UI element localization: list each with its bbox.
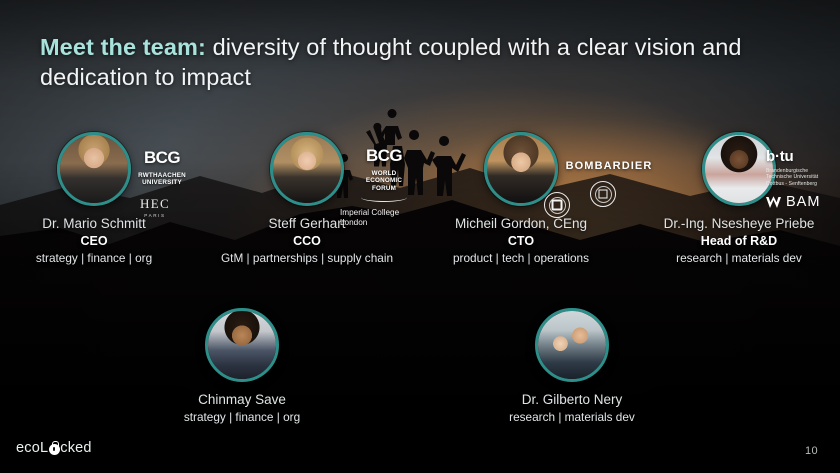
team-member-card[interactable]: Chinmay Save strategy | finance | org <box>148 308 336 424</box>
avatar <box>205 308 279 382</box>
team-member-card[interactable]: Dr. Gilberto Nery research | materials d… <box>478 308 666 424</box>
logo-cluster-btu-bam: b·tu Brandenburgische Technische Univers… <box>766 148 840 210</box>
bam-logo-text: BAM <box>786 194 820 210</box>
imperial-line2: London <box>340 218 432 228</box>
bcg-logo: BCG <box>122 148 202 168</box>
institution-seal-icon <box>590 181 616 207</box>
avatar-photo <box>208 311 276 379</box>
brand-text-post: cked <box>60 440 91 456</box>
bam-logo: BAM <box>766 194 840 210</box>
member-name: Chinmay Save <box>148 392 336 407</box>
member-tags: research | materials dev <box>645 251 833 265</box>
avatar-photo <box>538 311 606 379</box>
logo-cluster-bcg-wef-imperial: BCG WORLD ECONOMIC FORUM Imperial Colleg… <box>336 146 432 228</box>
avatar <box>702 132 776 206</box>
member-tags: research | materials dev <box>478 410 666 424</box>
brand-text-pre: ecoL <box>16 440 48 456</box>
member-role: Head of R&D <box>645 234 833 248</box>
slide-title: Meet the team: diversity of thought coup… <box>40 32 810 92</box>
member-tags: strategy | finance | org <box>148 410 336 424</box>
imperial-college-logo: Imperial College London <box>336 208 432 228</box>
bcg-logo: BCG <box>336 146 432 166</box>
engineering-council-seal-icon <box>544 192 570 218</box>
lock-icon <box>49 444 60 455</box>
member-name: Dr. Gilberto Nery <box>478 392 666 407</box>
member-tags: GtM | partnerships | supply chain <box>213 251 401 265</box>
member-tags: strategy | finance | org <box>0 251 188 265</box>
member-tags: product | tech | operations <box>427 251 615 265</box>
avatar-photo <box>273 135 341 203</box>
member-role: CCO <box>213 234 401 248</box>
btu-logo-b: b <box>766 148 775 165</box>
presentation-slide: Meet the team: diversity of thought coup… <box>0 0 840 473</box>
bombardier-logo: BOMBARDIER <box>540 160 660 172</box>
page-number: 10 <box>805 445 818 457</box>
member-name: Micheil Gordon, CEng <box>427 216 615 231</box>
btu-logo: b·tu Brandenburgische Technische Univers… <box>766 148 840 187</box>
member-name: Dr. Mario Schmitt <box>0 216 188 231</box>
member-name: Dr.-Ing. Nsesheye Priebe <box>645 216 833 231</box>
slide-title-accent: Meet the team: <box>40 34 206 60</box>
rwth-logo-line2: UNIVERSITY <box>122 179 202 186</box>
wef-line2: ECONOMIC <box>336 177 432 184</box>
world-economic-forum-logo: WORLD ECONOMIC FORUM <box>336 170 432 202</box>
wef-line3: FORUM <box>336 185 432 192</box>
avatar-photo <box>705 135 773 203</box>
hec-logo-sub: PARIS <box>108 213 202 218</box>
wef-arc-icon <box>361 193 407 202</box>
logo-cluster-bcg-rwth-hec: BCG RWTHAACHEN UNIVERSITY HEC PARIS <box>122 148 202 218</box>
avatar <box>270 132 344 206</box>
avatar <box>535 308 609 382</box>
imperial-line1: Imperial College <box>340 208 432 218</box>
logo-cluster-bombardier-seals: BOMBARDIER <box>540 160 660 215</box>
member-role: CTO <box>427 234 615 248</box>
btu-logo-tu: tu <box>780 148 794 165</box>
avatar-photo <box>60 135 128 203</box>
hec-logo: HEC PARIS <box>108 195 202 218</box>
member-role: CEO <box>0 234 188 248</box>
hec-logo-text: HEC <box>140 196 170 211</box>
btu-sub-line3: Cottbus - Senftenberg <box>766 181 840 187</box>
bam-mark-icon <box>766 196 781 209</box>
ecolocked-logo: ecoLcked <box>16 440 92 456</box>
